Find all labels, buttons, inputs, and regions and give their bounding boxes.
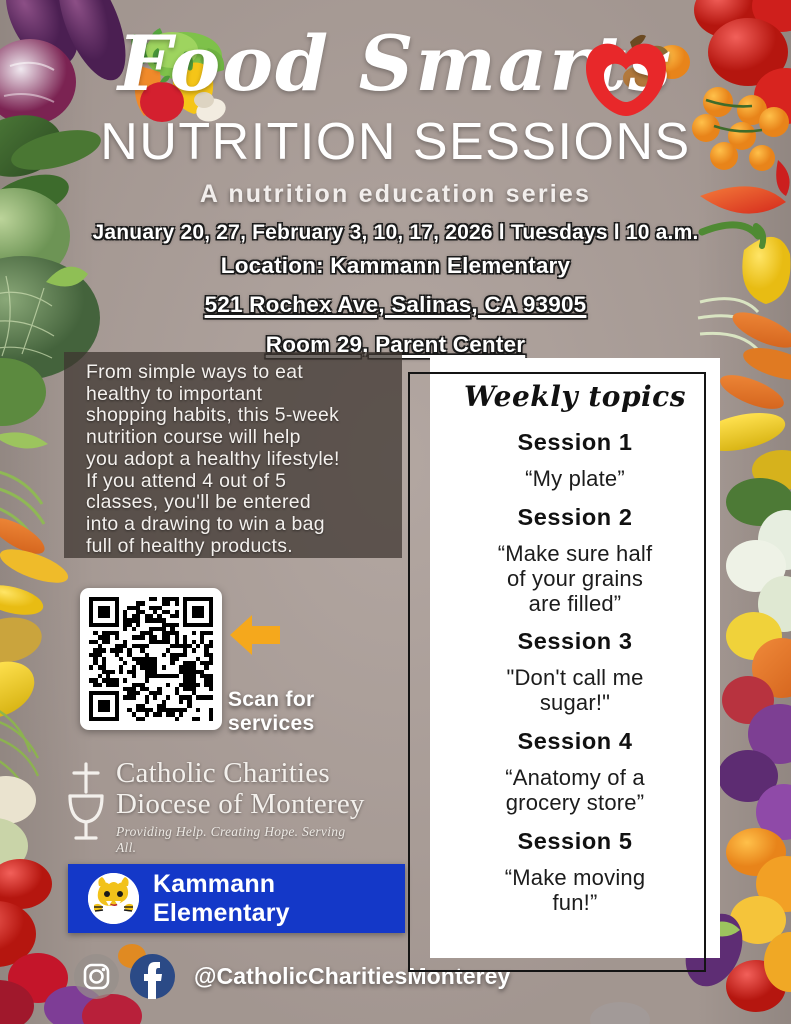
event-address: 521 Rochex Ave, Salinas, CA 93905 <box>0 289 791 321</box>
session-block: Session 5 “Make moving fun!” <box>444 828 706 916</box>
topics-heading: Weekly topics <box>444 380 706 413</box>
apple-heart-icon <box>580 32 672 118</box>
catholic-charities-logo: Catholic Charities Diocese of Monterey P… <box>64 760 364 842</box>
session-block: Session 4 “Anatomy of a grocery store” <box>444 728 706 816</box>
school-name-label: Kammann Elementary <box>153 870 405 928</box>
org-tagline: Providing Help. Creating Hope. Serving A… <box>116 824 366 856</box>
qr-code-matrix <box>89 597 213 721</box>
facebook-icon[interactable] <box>130 954 175 999</box>
session-title: Session 2 <box>444 504 706 531</box>
event-dates: January 20, 27, February 3, 10, 17, 2026… <box>0 218 791 248</box>
session-block: Session 2 “Make sure half of your grains… <box>444 504 706 617</box>
flyer-canvas: Food Smarts NUTRITION SESSIONS A nutriti… <box>0 0 791 1024</box>
session-topic: “Make moving fun!” <box>444 866 706 916</box>
session-title: Session 3 <box>444 628 706 655</box>
qr-code-icon[interactable] <box>80 588 222 730</box>
social-handle: @CatholicCharitiesMonterey <box>194 963 510 990</box>
session-topic: "Don't call me sugar!" <box>444 666 706 716</box>
session-topic: “Make sure half of your grains are fille… <box>444 542 706 617</box>
page-title-script: Food Smarts <box>0 26 791 102</box>
arrow-left-icon <box>228 612 282 658</box>
instagram-icon[interactable] <box>74 954 119 999</box>
session-block: Session 3 "Don't call me sugar!" <box>444 628 706 716</box>
chalice-cross-icon <box>64 762 108 840</box>
social-footer: @CatholicCharitiesMonterey <box>74 954 510 999</box>
session-block: Session 1 “My plate” <box>444 429 706 492</box>
page-title-main: NUTRITION SESSIONS <box>0 116 791 168</box>
session-title: Session 5 <box>444 828 706 855</box>
wildcat-mascot-icon <box>88 873 139 924</box>
org-name-line1: Catholic Charities <box>116 758 366 789</box>
event-location: Location: Kammann Elementary <box>0 250 791 282</box>
description-box: From simple ways to eat healthy to impor… <box>64 352 402 558</box>
weekly-topics-panel: Weekly topics Session 1 “My plate” Sessi… <box>430 358 720 958</box>
scan-for-services-label: Scan for services <box>228 688 388 735</box>
catholic-charities-text: Catholic Charities Diocese of Monterey P… <box>116 758 366 856</box>
event-details: January 20, 27, February 3, 10, 17, 2026… <box>0 218 791 361</box>
org-name-line2: Diocese of Monterey <box>116 789 366 820</box>
session-topic: “Anatomy of a grocery store” <box>444 766 706 816</box>
page-subtitle: A nutrition education series <box>0 180 791 209</box>
session-title: Session 4 <box>444 728 706 755</box>
session-topic: “My plate” <box>444 467 706 492</box>
description-text: From simple ways to eat healthy to impor… <box>86 362 390 558</box>
session-title: Session 1 <box>444 429 706 456</box>
school-banner[interactable]: Kammann Elementary <box>68 864 405 933</box>
